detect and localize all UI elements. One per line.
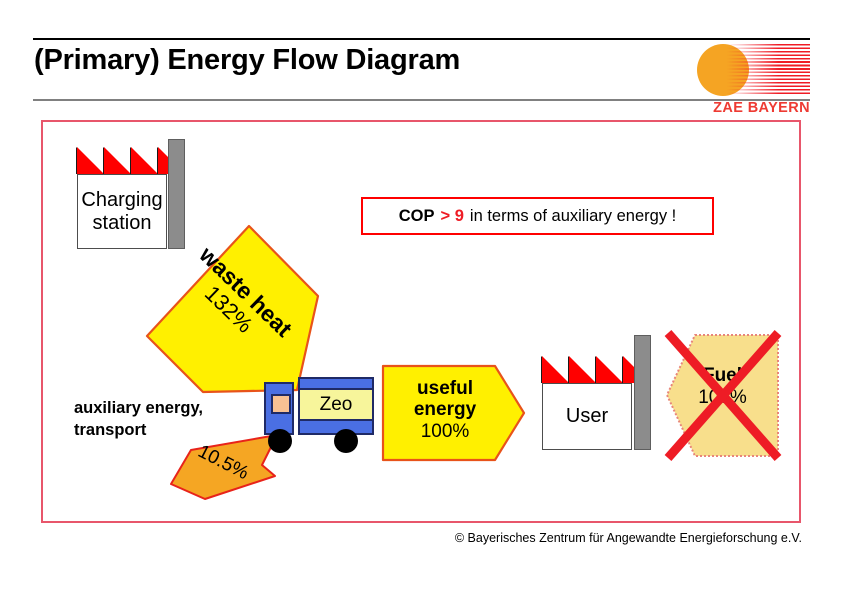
cop-callout: COP > 9 in terms of auxiliary energy ! (361, 197, 714, 235)
useful-energy-arrow-label: useful energy 100% (387, 378, 503, 442)
user-body: User (542, 383, 632, 450)
truck-cab (264, 382, 294, 435)
diagram-frame: Charging station COP > 9 in terms of aux… (41, 120, 801, 523)
fuel-arrow-struck-out: Fuel 105% (665, 332, 780, 459)
logo-text: ZAE BAYERN (697, 100, 810, 116)
useful-energy-line1: useful (387, 378, 503, 399)
useful-energy-arrow: useful energy 100% (381, 364, 526, 462)
copyright-notice: © Bayerisches Zentrum für Angewandte Ene… (380, 531, 802, 545)
waste-heat-arrow: waste heat 132% (145, 224, 320, 394)
cop-prefix: COP (399, 207, 435, 226)
slide-canvas: (Primary) Energy Flow Diagram ZAE BAYERN… (0, 0, 842, 595)
truck-cargo-label: Zeo (300, 388, 372, 421)
truck-wheel (268, 429, 292, 453)
useful-energy-value: 100% (387, 421, 503, 442)
zae-bayern-logo: ZAE BAYERN (697, 42, 810, 97)
rays-icon (727, 44, 810, 96)
charging-station-label-line1: Charging (81, 189, 162, 212)
truck-wheel (334, 429, 358, 453)
roof-tooth (104, 147, 131, 174)
cop-suffix: in terms of auxiliary energy ! (470, 207, 676, 226)
user-node: User (534, 335, 659, 450)
user-label: User (566, 405, 608, 428)
roof-tooth (542, 356, 569, 383)
cop-highlight: > 9 (441, 207, 464, 226)
header-top-rule (33, 38, 810, 40)
strikethrough-cross-icon (659, 326, 786, 465)
auxiliary-energy-label-line1: auxiliary energy, (74, 397, 284, 419)
header-bottom-rule (33, 99, 810, 101)
roof-tooth (77, 147, 104, 174)
roof-tooth (569, 356, 596, 383)
charging-station-label-line2: station (93, 212, 152, 235)
auxiliary-energy-arrow: 10.5% (169, 432, 279, 502)
page-title: (Primary) Energy Flow Diagram (34, 44, 674, 77)
truck-trailer: Zeo (298, 377, 374, 435)
truck-window (271, 394, 291, 414)
useful-energy-line2: energy (387, 399, 503, 420)
transport-truck: Zeo (264, 377, 374, 455)
roof-tooth (596, 356, 623, 383)
roof-tooth (131, 147, 158, 174)
chimney-icon (634, 335, 651, 450)
